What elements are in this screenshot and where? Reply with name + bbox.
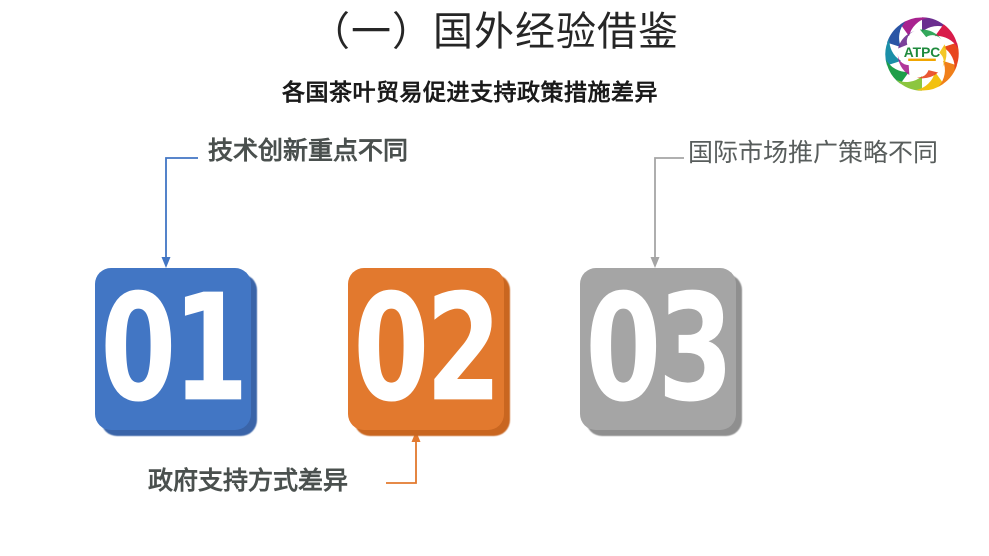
page-subtitle: 各国茶叶贸易促进支持政策措施差异 [0,76,940,108]
callout-label-government: 政府支持方式差异 [148,466,348,496]
card-03-number: 03 [586,275,731,423]
atpc-logo-icon: ATPC [876,8,968,100]
number-card-01[interactable]: 01 [95,268,257,436]
connector-technology [162,158,199,268]
card-03-face: 03 [580,268,736,430]
connector-government [386,431,421,483]
number-card-02[interactable]: 02 [348,268,510,436]
atpc-logo-underline [908,59,936,61]
connector-international [651,158,685,268]
atpc-logo: ATPC [876,8,968,100]
card-01-number: 01 [101,275,246,423]
callout-label-technology: 技术创新重点不同 [208,136,408,166]
page-title: （一）国外经验借鉴 [0,6,989,58]
card-02-number: 02 [354,275,499,423]
card-02-face: 02 [348,268,504,430]
atpc-logo-text: ATPC [904,45,941,60]
slide-canvas: （一）国外经验借鉴 各国茶叶贸易促进支持政策措施差异 [0,0,989,556]
number-card-03[interactable]: 03 [580,268,742,436]
callout-label-international: 国际市场推广策略不同 [688,138,938,168]
card-01-face: 01 [95,268,251,430]
